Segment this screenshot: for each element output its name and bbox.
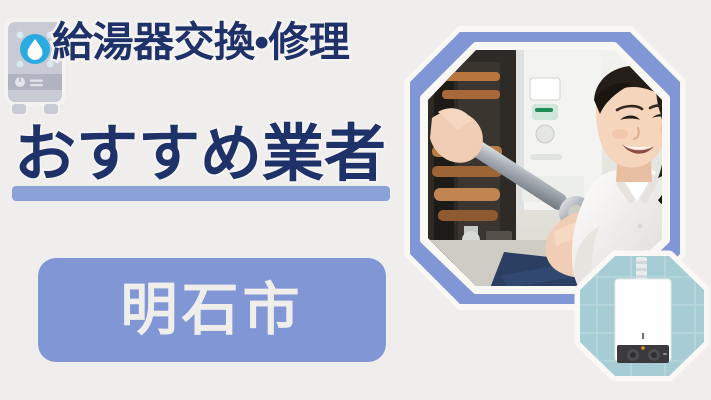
- city-badge: 明石市: [38, 258, 386, 362]
- city-badge-label: 明石市: [121, 282, 304, 339]
- headline-line-1: 給湯器交換•修理: [52, 22, 349, 63]
- headline-line-2: おすすめ業者: [14, 124, 386, 186]
- water-heater-photo-frame: [573, 249, 711, 383]
- banner-root: 給湯器交換•修理 おすすめ業者 明石市: [0, 0, 711, 400]
